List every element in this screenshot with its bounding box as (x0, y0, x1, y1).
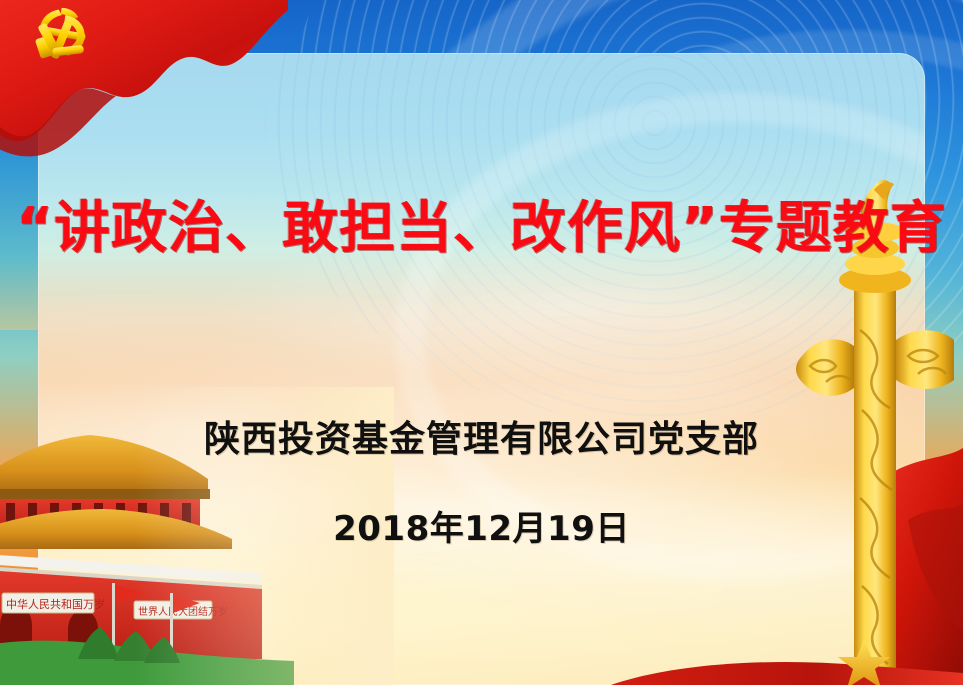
organization-name: 陕西投资基金管理有限公司党支部 (0, 410, 963, 462)
slide-date: 2018年12月19日 (0, 501, 963, 550)
panel-cloud-wash (38, 53, 925, 685)
content-panel (38, 53, 925, 685)
slide-title: “讲政治、敢担当、改作风”专题教育 (0, 198, 963, 261)
presentation-slide: 中华人民共和国万岁 世界人民大团结万岁 (0, 0, 963, 685)
